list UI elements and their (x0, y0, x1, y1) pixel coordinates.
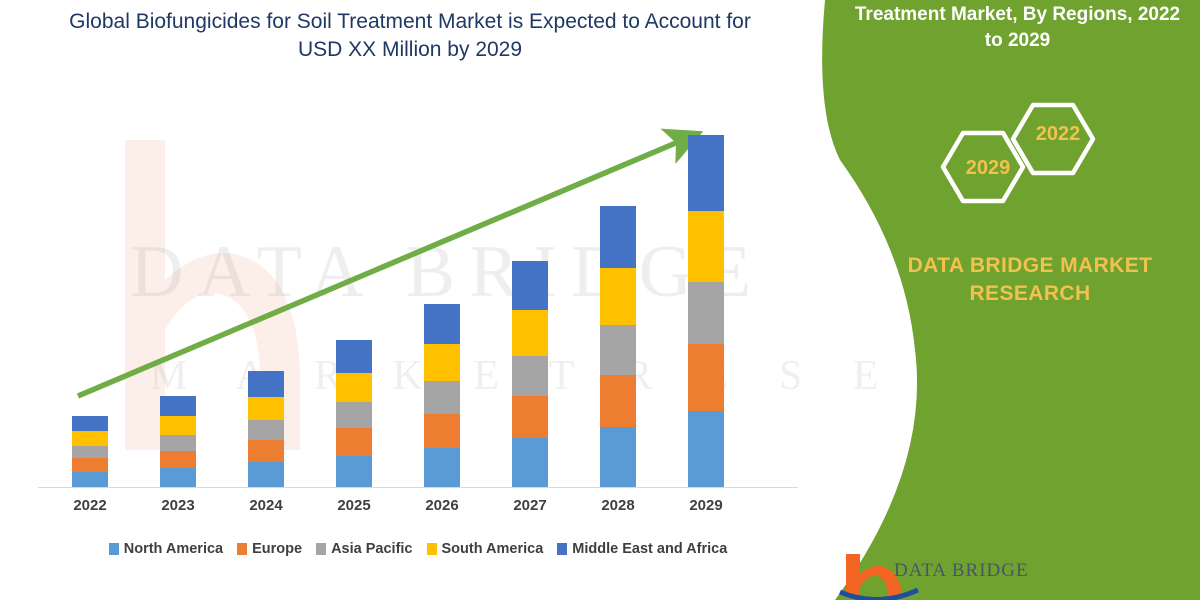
panel-title: Treatment Market, By Regions, 2022 to 20… (845, 2, 1190, 54)
bar-segment (424, 304, 460, 344)
bar-segment (248, 371, 284, 397)
hexagon-2022-label: 2022 (1017, 123, 1099, 146)
x-axis-tick-label: 2028 (578, 497, 658, 514)
bar-segment (688, 344, 724, 411)
footer-logo-text: DATA BRIDGE (894, 560, 1029, 582)
bar-segment (248, 462, 284, 487)
bar-segment (512, 261, 548, 310)
hexagon-2029-label: 2029 (947, 157, 1029, 180)
bar-segment (248, 397, 284, 421)
bar-segment (160, 435, 196, 451)
legend-item[interactable]: Asia Pacific (316, 541, 412, 557)
x-axis-tick-label: 2024 (226, 497, 306, 514)
x-axis-tick-label: 2025 (314, 497, 394, 514)
bar-segment (600, 375, 636, 427)
bar-segment (248, 420, 284, 440)
bar-segment (424, 381, 460, 413)
bar-segment (512, 396, 548, 439)
chart-legend: North AmericaEuropeAsia PacificSouth Ame… (38, 541, 798, 557)
x-axis-tick-label: 2023 (138, 497, 218, 514)
bar-segment (160, 416, 196, 435)
x-axis-tick-label: 2027 (490, 497, 570, 514)
bar-segment (512, 310, 548, 356)
bar-segment (424, 344, 460, 381)
legend-label: Asia Pacific (331, 541, 412, 557)
bar-stack (336, 340, 372, 487)
bar-segment (336, 456, 372, 487)
bar-segment (248, 440, 284, 462)
bar-segment (72, 431, 108, 446)
bar-segment (336, 340, 372, 372)
chart-canvas: DATA BRIDGE M A R K E T R E S E A R C H … (0, 0, 1200, 600)
x-axis-tick-label: 2029 (666, 497, 746, 514)
legend-label: Europe (252, 541, 302, 557)
bar-stack (72, 416, 108, 487)
legend-item[interactable]: Europe (237, 541, 302, 557)
bar-segment (688, 211, 724, 282)
x-axis-tick-label: 2022 (50, 497, 130, 514)
bar-segment (336, 373, 372, 402)
bar-segment (72, 446, 108, 458)
bar-stack (600, 206, 636, 487)
bar-segment (512, 438, 548, 487)
bar-segment (424, 448, 460, 487)
bar-segment (72, 416, 108, 431)
bar-segment (600, 268, 636, 325)
plot-area: 20222023202420252026202720282029 (0, 0, 820, 600)
bar-segment (424, 414, 460, 448)
legend-swatch (237, 543, 247, 555)
bar-stack (512, 261, 548, 487)
legend-item[interactable]: Middle East and Africa (557, 541, 727, 557)
bar-segment (160, 396, 196, 416)
legend-label: Middle East and Africa (572, 541, 727, 557)
legend-item[interactable]: South America (427, 541, 544, 557)
legend-item[interactable]: North America (109, 541, 223, 557)
bar-segment (160, 468, 196, 487)
brand-name: DATA BRIDGE MARKET RESEARCH (880, 252, 1180, 308)
bar-segment (160, 451, 196, 468)
bar-stack (424, 304, 460, 487)
bar-segment (336, 428, 372, 456)
bar-segment (600, 206, 636, 268)
bar-segment (688, 411, 724, 487)
bar-stack (688, 135, 724, 487)
bar-stack (248, 371, 284, 487)
bar-segment (336, 402, 372, 428)
legend-swatch (316, 543, 326, 555)
legend-swatch (557, 543, 567, 555)
bar-stack (160, 396, 196, 487)
x-axis-tick-label: 2026 (402, 497, 482, 514)
bar-segment (688, 282, 724, 344)
bar-segment (72, 472, 108, 487)
bar-segment (688, 135, 724, 211)
bar-segment (600, 325, 636, 374)
bar-segment (512, 356, 548, 396)
bar-segment (600, 427, 636, 487)
bar-segment (72, 458, 108, 471)
hexagon-group: 2022 2029 (925, 95, 1125, 235)
legend-swatch (427, 543, 437, 555)
legend-label: North America (124, 541, 223, 557)
legend-label: South America (442, 541, 544, 557)
legend-swatch (109, 543, 119, 555)
